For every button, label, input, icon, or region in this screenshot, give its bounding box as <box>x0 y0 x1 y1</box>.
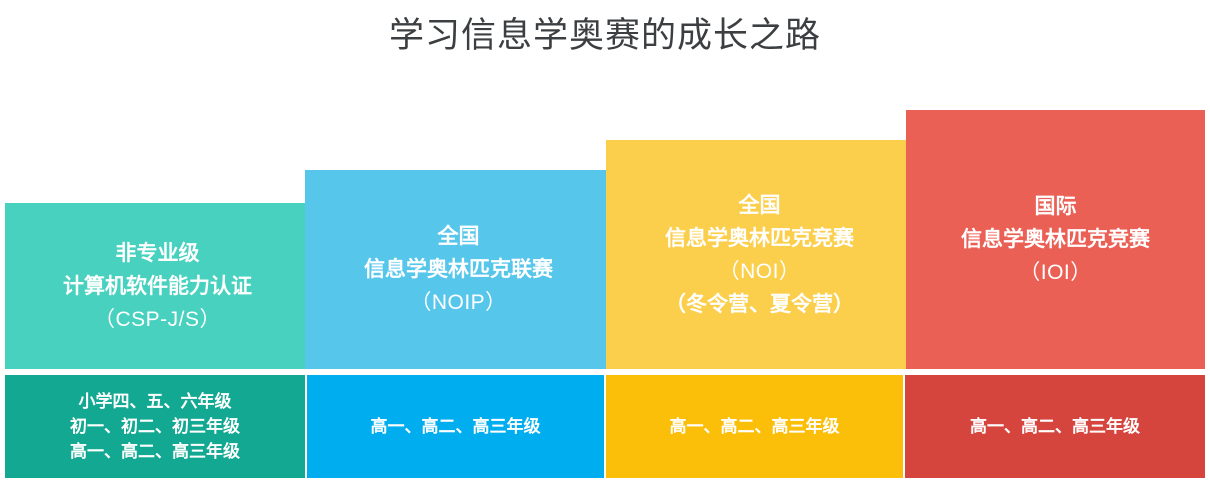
chevron-polygon <box>606 140 935 369</box>
step-noi[interactable]: 全国 信息学奥林匹克竞赛 （NOI） （冬令营、夏令营） <box>606 140 935 369</box>
chevron-polygon <box>5 203 332 369</box>
grade-bar-csp-line-2: 初一、初二、初三年级 <box>70 414 240 439</box>
grade-bar-csp[interactable]: 小学四、五、六年级 初一、初二、初三年级 高一、高二、高三年级 <box>5 375 305 478</box>
grade-bar-noi-line-1: 高一、高二、高三年级 <box>670 414 840 439</box>
grade-bar-noi-lines: 高一、高二、高三年级 <box>670 414 840 439</box>
grade-bar-csp-lines: 小学四、五、六年级 初一、初二、初三年级 高一、高二、高三年级 <box>70 389 240 464</box>
step-noip-chevron-shape <box>305 170 634 369</box>
chevron-polygon <box>906 110 1205 369</box>
step-ioi[interactable]: 国际 信息学奥林匹克竞赛 （IOI） <box>906 110 1205 369</box>
grade-bar-ioi[interactable]: 高一、高二、高三年级 <box>905 375 1205 478</box>
chevron-polygon <box>305 170 634 369</box>
step-csp[interactable]: 非专业级 计算机软件能力认证 （CSP-J/S） <box>5 203 332 369</box>
step-csp-chevron-shape <box>5 203 332 369</box>
grade-bar-noi[interactable]: 高一、高二、高三年级 <box>606 375 903 478</box>
step-noip[interactable]: 全国 信息学奥林匹克联赛 （NOIP） <box>305 170 634 369</box>
growth-path-diagram: 非专业级 计算机软件能力认证 （CSP-J/S） 全国 信息学奥林匹克联赛 （N… <box>0 0 1210 483</box>
step-ioi-chevron-shape <box>906 110 1205 369</box>
step-noi-chevron-shape <box>606 140 935 369</box>
grade-bar-csp-line-1: 小学四、五、六年级 <box>70 389 240 414</box>
grade-bar-noip[interactable]: 高一、高二、高三年级 <box>307 375 604 478</box>
grade-bar-noip-line-1: 高一、高二、高三年级 <box>371 414 541 439</box>
grade-bar-ioi-line-1: 高一、高二、高三年级 <box>970 414 1140 439</box>
grade-bar-noip-lines: 高一、高二、高三年级 <box>371 414 541 439</box>
grade-bar-ioi-lines: 高一、高二、高三年级 <box>970 414 1140 439</box>
grade-bar-csp-line-3: 高一、高二、高三年级 <box>70 439 240 464</box>
